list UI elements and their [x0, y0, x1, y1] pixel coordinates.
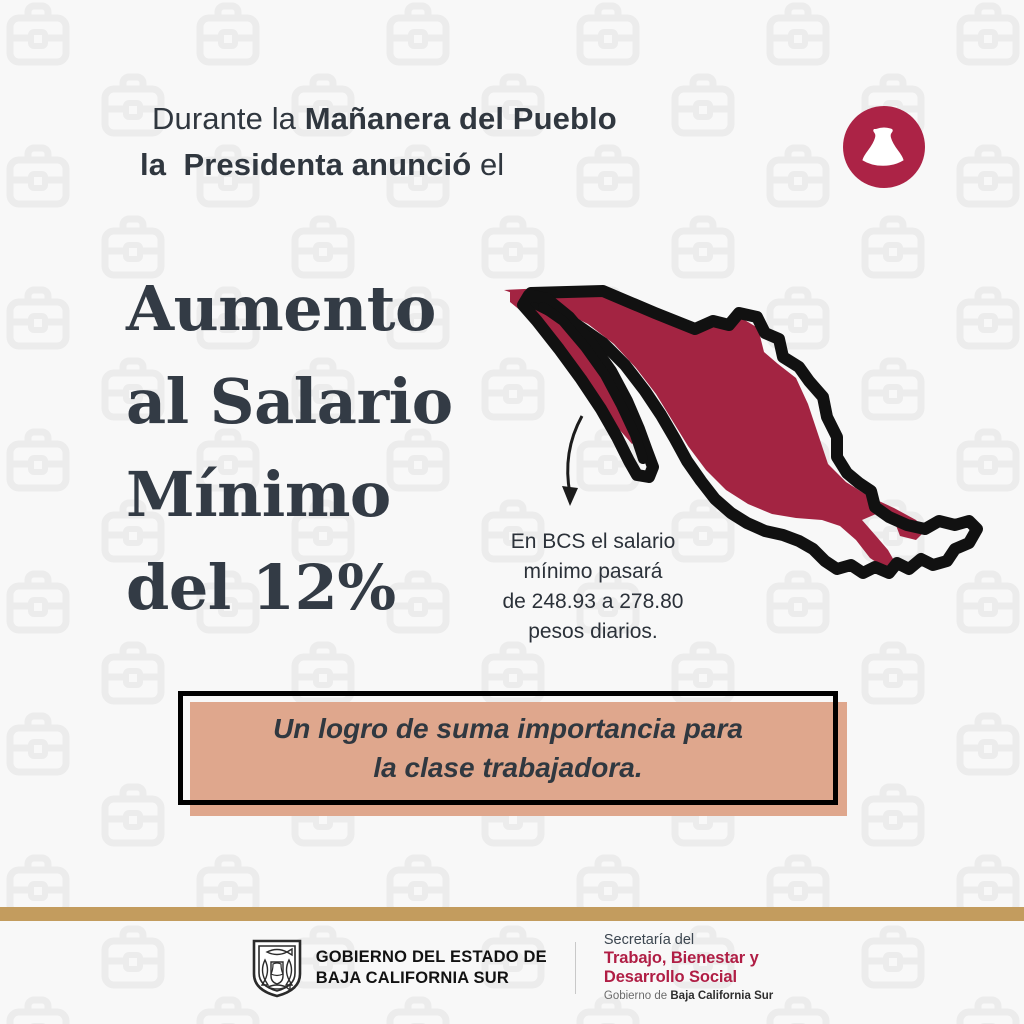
banner-line-2: la clase trabajadora.: [373, 748, 642, 787]
header-line2-plain: el: [471, 147, 504, 182]
banner-line-1: Un logro de suma importancia para: [273, 709, 743, 748]
annotation-line-2: mínimo pasará: [465, 557, 721, 587]
header-line2-bold: la Presidenta anunció: [140, 147, 471, 182]
arrow-svg: [548, 412, 608, 512]
headline-line-2: al Salario: [126, 355, 453, 448]
header-line1-bold: Mañanera del Pueblo: [305, 101, 617, 136]
page-title: Aumento al Salario Mínimo del 12%: [126, 262, 453, 634]
government-line-2: BAJA CALIFORNIA SUR: [316, 968, 547, 989]
secretaria-line-4: Gobierno de Baja California Sur: [604, 987, 773, 1004]
gold-divider-bar: [0, 907, 1024, 921]
government-logo: GOBIERNO DEL ESTADO DE BAJA CALIFORNIA S…: [251, 938, 547, 998]
shell-glyph: [861, 123, 907, 171]
headline-line-3: Mínimo: [126, 448, 453, 541]
secretaria-logo: Secretaría del Trabajo, Bienestar y Desa…: [604, 932, 773, 1004]
annotation-line-3: de 248.93 a 278.80: [465, 587, 721, 617]
header-line1-plain: Durante la: [152, 101, 305, 136]
secretaria-line-1: Secretaría del: [604, 932, 773, 949]
annotation-line-1: En BCS el salario: [465, 527, 721, 557]
bcs-wage-annotation: En BCS el salario mínimo pasará de 248.9…: [465, 527, 721, 647]
secretaria-line-2: Trabajo, Bienestar y: [604, 949, 773, 968]
secretaria-line4-plain: Gobierno de: [604, 990, 671, 1002]
curved-arrow-icon: [548, 412, 608, 512]
bcs-shell-seal-icon: [843, 106, 925, 188]
government-line-1: GOBIERNO DEL ESTADO DE: [316, 947, 547, 968]
annotation-line-4: pesos diarios.: [465, 617, 721, 647]
headline-line-1: Aumento: [126, 262, 453, 355]
infographic-poster: Durante la Mañanera del Pueblo la Presid…: [0, 0, 1024, 1024]
banner-quote: Un logro de suma importancia para la cla…: [178, 691, 838, 805]
footer-divider: [575, 942, 576, 994]
government-logo-text: GOBIERNO DEL ESTADO DE BAJA CALIFORNIA S…: [316, 947, 547, 989]
secretaria-line4-bold: Baja California Sur: [670, 990, 773, 1002]
headline-line-4: del 12%: [126, 541, 453, 634]
secretaria-line-3: Desarrollo Social: [604, 968, 773, 987]
footer: GOBIERNO DEL ESTADO DE BAJA CALIFORNIA S…: [0, 930, 1024, 1005]
bcs-coat-of-arms-icon: [251, 938, 303, 998]
